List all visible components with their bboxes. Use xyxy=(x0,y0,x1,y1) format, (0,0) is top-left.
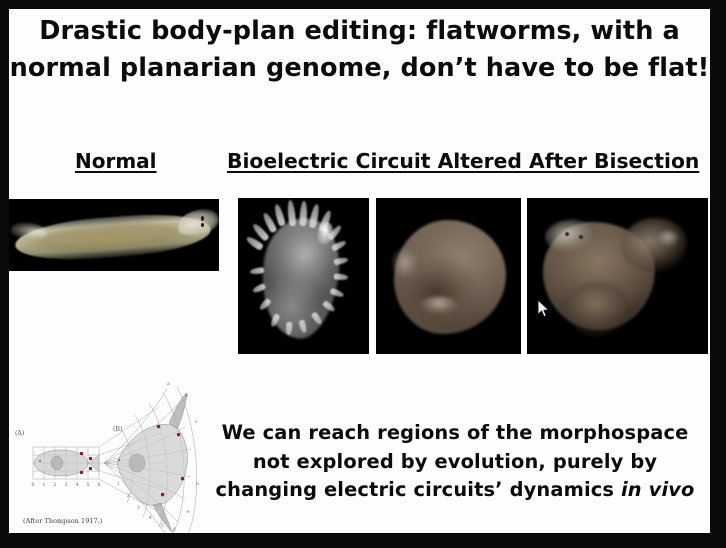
radial-lower-1: 2 xyxy=(127,493,130,498)
radial-lower-2: 3 xyxy=(137,505,140,510)
lumpy-worm-lower-lobe xyxy=(567,282,629,336)
lumpy-worm-group xyxy=(539,214,689,336)
heading-normal: Normal xyxy=(75,149,157,173)
diagram-caption: (After Thompson 1917.) xyxy=(23,517,102,525)
spike-icon xyxy=(299,201,307,226)
spike-icon xyxy=(273,203,286,226)
photo-panel-lumpy-worm xyxy=(527,198,708,354)
axis-tick-3: 3 xyxy=(65,482,68,488)
photo-panel-round-worm xyxy=(376,198,521,354)
diagram-label-a-group: (A) xyxy=(15,430,24,437)
bottom-line-3-plain: changing electric circuits’ dynamics xyxy=(216,478,622,501)
axis-tick-4: 4 xyxy=(76,482,79,488)
bottom-line-2: not explored by evolution, purely by xyxy=(205,448,705,477)
radial-label-b: b xyxy=(196,482,199,487)
radial-label-d: d xyxy=(185,394,188,399)
round-worm-highlight-left xyxy=(392,248,418,278)
title-line-2: normal planarian genome, don’t have to b… xyxy=(9,50,710,87)
diagram-fish-b xyxy=(117,393,187,533)
title-line-1: Drastic body-plan editing: flatworms, wi… xyxy=(9,13,710,50)
bottom-line-3: changing electric circuits’ dynamics in … xyxy=(205,476,705,505)
thompson-transformation-diagram: (A) (B) xyxy=(9,371,201,533)
normal-worm-tail xyxy=(10,221,47,241)
radial-lower-5: 6 xyxy=(173,527,176,532)
radial-lower-4: 5 xyxy=(161,523,164,528)
bottom-line-3-italic: in vivo xyxy=(621,478,695,501)
spike-icon xyxy=(287,200,297,227)
diagram-fish-a xyxy=(34,450,99,476)
radial-lower-3: 4 xyxy=(149,515,152,520)
axis-tick-1: 1 xyxy=(43,482,46,488)
bottom-line-1: We can reach regions of the morphospace xyxy=(205,419,705,448)
axis-tick-6: 6 xyxy=(98,482,101,488)
diagram-axis-ticks: 0 1 2 3 4 5 6 xyxy=(32,482,101,488)
lumpy-worm-eyespot-right xyxy=(579,235,583,239)
photo-panel-normal-worm xyxy=(9,199,219,271)
lumpy-worm-right-highlight xyxy=(657,230,679,246)
diagram-label-b-group: (B) xyxy=(113,426,122,433)
radial-label-c: c xyxy=(195,420,198,425)
slide-title: Drastic body-plan editing: flatworms, wi… xyxy=(9,13,710,87)
axis-tick-0: 0 xyxy=(32,482,35,488)
round-worm-body xyxy=(394,220,506,334)
bottom-paragraph: We can reach regions of the morphospace … xyxy=(205,419,705,505)
normal-worm-head xyxy=(175,205,219,238)
radial-lower-0: 1 xyxy=(117,481,120,486)
normal-worm-eyespot-right xyxy=(201,223,204,227)
slide-frame: Drastic body-plan editing: flatworms, wi… xyxy=(0,0,726,548)
radial-label-a: a xyxy=(167,382,170,387)
spike-icon xyxy=(334,257,349,266)
axis-tick-5: 5 xyxy=(87,482,90,488)
slide-canvas: Drastic body-plan editing: flatworms, wi… xyxy=(9,9,710,533)
radial-label-e: e xyxy=(187,510,190,515)
diagram-label-a: (A) xyxy=(15,430,24,437)
lumpy-worm-eyespot-left xyxy=(565,232,569,236)
normal-worm-eyespot-left xyxy=(201,216,204,221)
heading-bioelectric: Bioelectric Circuit Altered After Bisect… xyxy=(227,149,699,173)
axis-tick-2: 2 xyxy=(54,482,57,488)
diagram-label-b: (B) xyxy=(113,426,122,433)
round-worm-highlight-bottom xyxy=(420,296,458,314)
spike-icon xyxy=(334,273,348,280)
photo-panel-spiky-worm xyxy=(238,198,369,354)
